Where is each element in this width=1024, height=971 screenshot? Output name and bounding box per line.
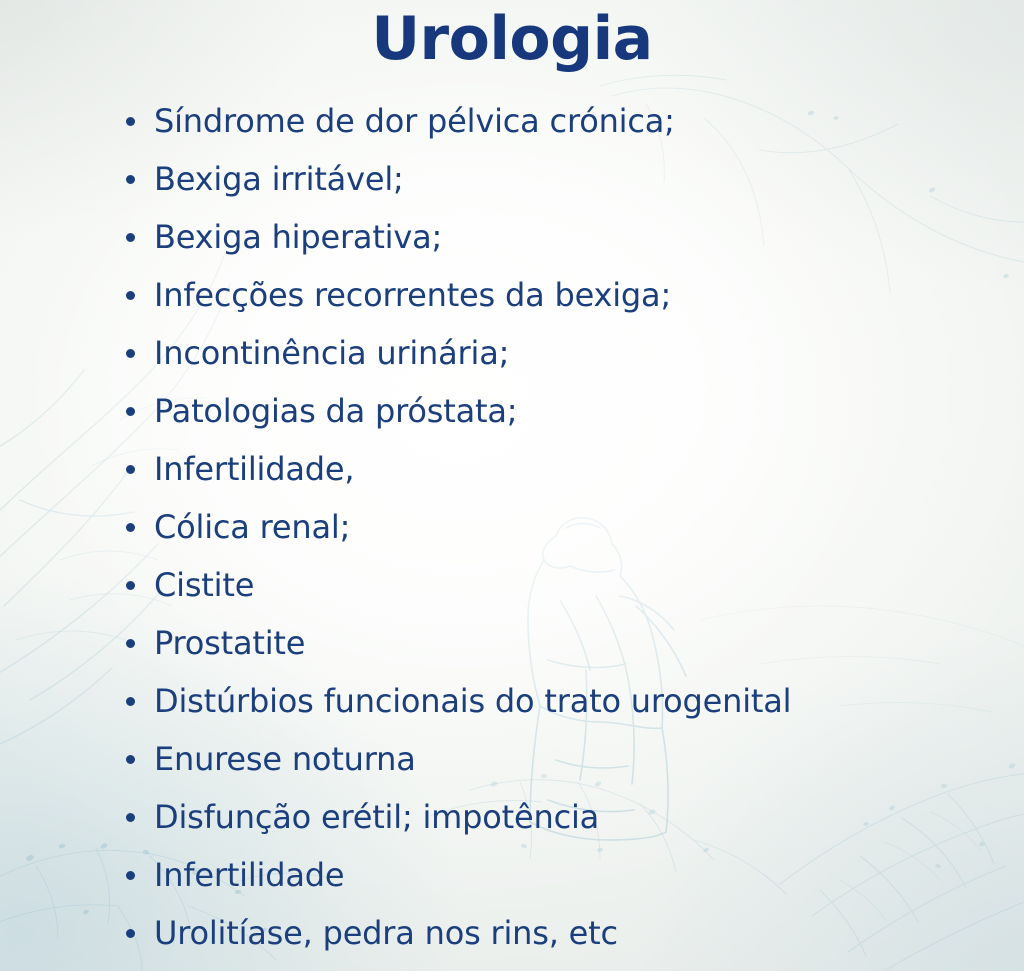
list-item: Infertilidade, xyxy=(124,440,1004,498)
bullet-dot-icon xyxy=(126,755,135,764)
list-item-label: Urolitíase, pedra nos rins, etc xyxy=(154,914,618,952)
list-item: Patologias da próstata; xyxy=(124,382,1004,440)
list-item-label: Síndrome de dor pélvica crónica; xyxy=(154,102,675,140)
bullet-dot-icon xyxy=(126,871,135,880)
list-item: Cistite xyxy=(124,556,1004,614)
page-title: Urologia xyxy=(0,6,1024,72)
list-item-label: Infertilidade, xyxy=(154,450,354,488)
bullet-dot-icon xyxy=(126,813,135,822)
list-item: Infertilidade xyxy=(124,846,1004,904)
list-item-label: Distúrbios funcionais do trato urogenita… xyxy=(154,682,791,720)
list-item-label: Cólica renal; xyxy=(154,508,350,546)
bullet-dot-icon xyxy=(126,117,135,126)
list-item: Prostatite xyxy=(124,614,1004,672)
list-item: Disfunção erétil; impotência xyxy=(124,788,1004,846)
list-item-label: Bexiga irritável; xyxy=(154,160,404,198)
list-item-label: Prostatite xyxy=(154,624,305,662)
list-item: Cólica renal; xyxy=(124,498,1004,556)
bullet-dot-icon xyxy=(126,175,135,184)
slide-content: Urologia Síndrome de dor pélvica crónica… xyxy=(0,0,1024,971)
condition-list: Síndrome de dor pélvica crónica; Bexiga … xyxy=(124,92,1004,962)
list-item: Incontinência urinária; xyxy=(124,324,1004,382)
list-item: Síndrome de dor pélvica crónica; xyxy=(124,92,1004,150)
bullet-dot-icon xyxy=(126,233,135,242)
list-item-label: Bexiga hiperativa; xyxy=(154,218,442,256)
bullet-dot-icon xyxy=(126,697,135,706)
list-item-label: Cistite xyxy=(154,566,254,604)
bullet-dot-icon xyxy=(126,291,135,300)
bullet-dot-icon xyxy=(126,581,135,590)
list-item: Bexiga hiperativa; xyxy=(124,208,1004,266)
bullet-dot-icon xyxy=(126,929,135,938)
list-item: Distúrbios funcionais do trato urogenita… xyxy=(124,672,1004,730)
list-item: Urolitíase, pedra nos rins, etc xyxy=(124,904,1004,962)
list-item: Bexiga irritável; xyxy=(124,150,1004,208)
list-item: Infecções recorrentes da bexiga; xyxy=(124,266,1004,324)
list-item-label: Disfunção erétil; impotência xyxy=(154,798,599,836)
list-item-label: Infertilidade xyxy=(154,856,344,894)
list-item: Enurese noturna xyxy=(124,730,1004,788)
bullet-dot-icon xyxy=(126,639,135,648)
bullet-dot-icon xyxy=(126,465,135,474)
list-item-label: Incontinência urinária; xyxy=(154,334,509,372)
list-item-label: Enurese noturna xyxy=(154,740,416,778)
bullet-dot-icon xyxy=(126,523,135,532)
bullet-dot-icon xyxy=(126,349,135,358)
list-item-label: Infecções recorrentes da bexiga; xyxy=(154,276,671,314)
list-item-label: Patologias da próstata; xyxy=(154,392,517,430)
bullet-dot-icon xyxy=(126,407,135,416)
slide-canvas: Urologia Síndrome de dor pélvica crónica… xyxy=(0,0,1024,971)
